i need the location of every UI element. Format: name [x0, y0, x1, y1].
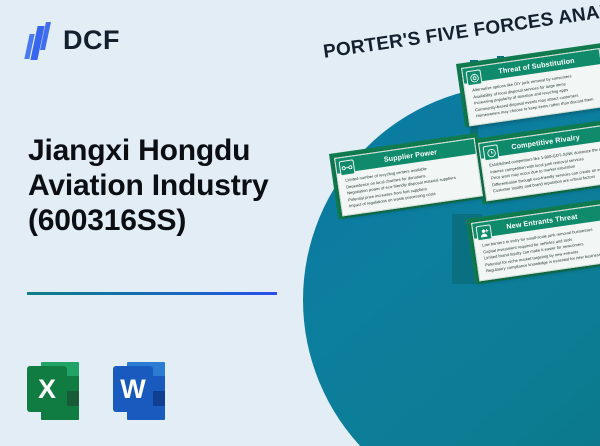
brand-logo[interactable]: DCF [27, 22, 120, 60]
clock-icon [483, 144, 500, 161]
excel-file-icon[interactable]: X [27, 362, 79, 420]
person-add-icon [476, 224, 493, 241]
word-file-icon[interactable]: W [113, 362, 165, 420]
page-title: Jiangxi Hongdu Aviation Industry (600316… [28, 133, 303, 238]
logo-text: DCF [63, 27, 120, 56]
title-divider [27, 292, 277, 295]
excel-letter: X [27, 366, 67, 412]
slide-canvas: DCF Jiangxi Hongdu Aviation Industry (60… [0, 0, 600, 446]
left-info-panel: DCF Jiangxi Hongdu Aviation Industry (60… [0, 0, 320, 446]
handshake-icon [339, 159, 356, 176]
bar-chart-logo-icon [27, 22, 53, 60]
target-icon [466, 69, 483, 86]
file-export-icons: X W [27, 362, 165, 420]
word-letter: W [113, 366, 153, 412]
